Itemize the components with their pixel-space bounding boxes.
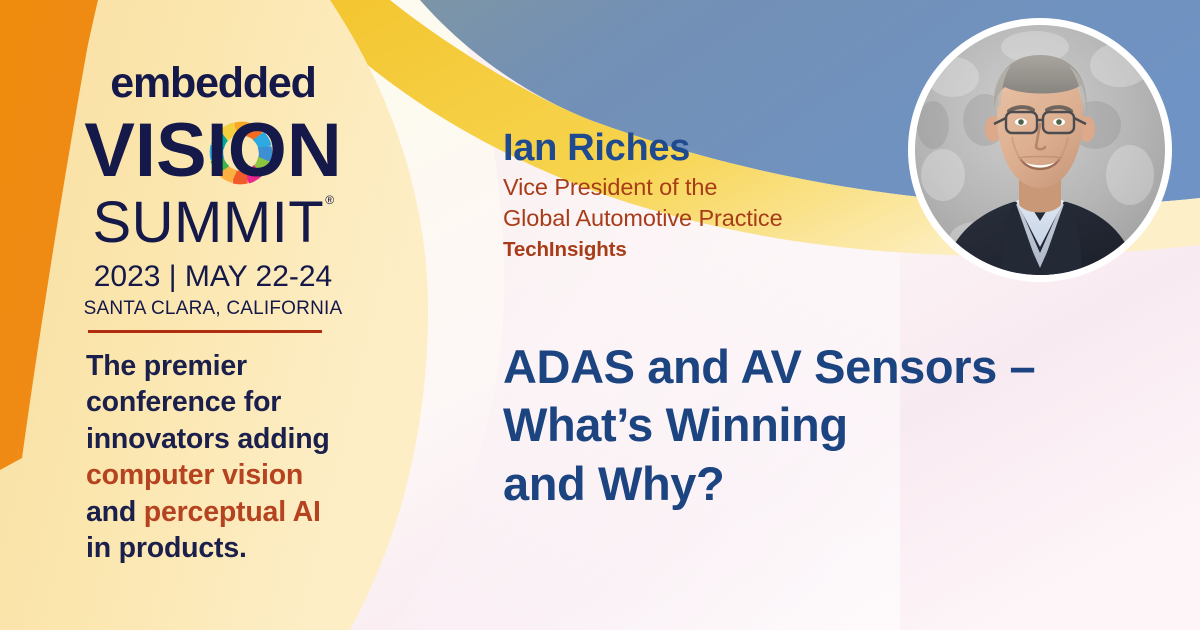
event-dates: 2023 | MAY 22-24 xyxy=(82,262,344,292)
talk-title-line-3: and Why? xyxy=(503,457,724,510)
speaker-photo xyxy=(915,25,1165,275)
tagline-line-6: in products. xyxy=(86,532,247,564)
tagline-line-3: innovators adding xyxy=(86,423,330,455)
speaker-role: Vice President of the Global Automotive … xyxy=(503,172,783,235)
logo-word-embedded: embedded xyxy=(82,62,344,105)
speaker-company: TechInsights xyxy=(503,237,783,264)
logo-word-summit-row: SUMMIT® xyxy=(82,195,344,250)
tagline-line-1: The premier xyxy=(86,350,247,382)
tagline-highlight-computer-vision: computer vision xyxy=(86,459,303,491)
logo-vision-row: VISION xyxy=(82,107,344,195)
talk-title-line-2: What’s Winning xyxy=(503,398,848,451)
tagline-highlight-perceptual-ai: perceptual AI xyxy=(144,496,321,528)
talk-title-line-1: ADAS and AV Sensors – xyxy=(503,340,1035,393)
avatar-image-frame xyxy=(915,25,1165,275)
speaker-avatar xyxy=(908,18,1172,282)
event-promo-banner: embedded xyxy=(0,0,1200,630)
tagline-line-2: conference for xyxy=(86,386,281,418)
event-logo: embedded xyxy=(82,62,344,318)
talk-title: ADAS and AV Sensors – What’s Winning and… xyxy=(503,338,1163,513)
left-panel: embedded xyxy=(0,0,400,630)
tagline-conjunction: and xyxy=(86,496,144,528)
logo-word-vision: VISION xyxy=(82,107,344,195)
logo-word-summit: SUMMIT xyxy=(92,190,324,255)
speaker-role-line-2: Global Automotive Practice xyxy=(503,205,783,231)
divider-rule xyxy=(88,330,322,333)
tagline: The premier conference for innovators ad… xyxy=(86,348,386,567)
event-location: SANTA CLARA, CALIFORNIA xyxy=(82,299,344,318)
speaker-info: Ian Riches Vice President of the Global … xyxy=(503,128,783,263)
speaker-name: Ian Riches xyxy=(503,128,783,169)
speaker-role-line-1: Vice President of the xyxy=(503,174,717,200)
